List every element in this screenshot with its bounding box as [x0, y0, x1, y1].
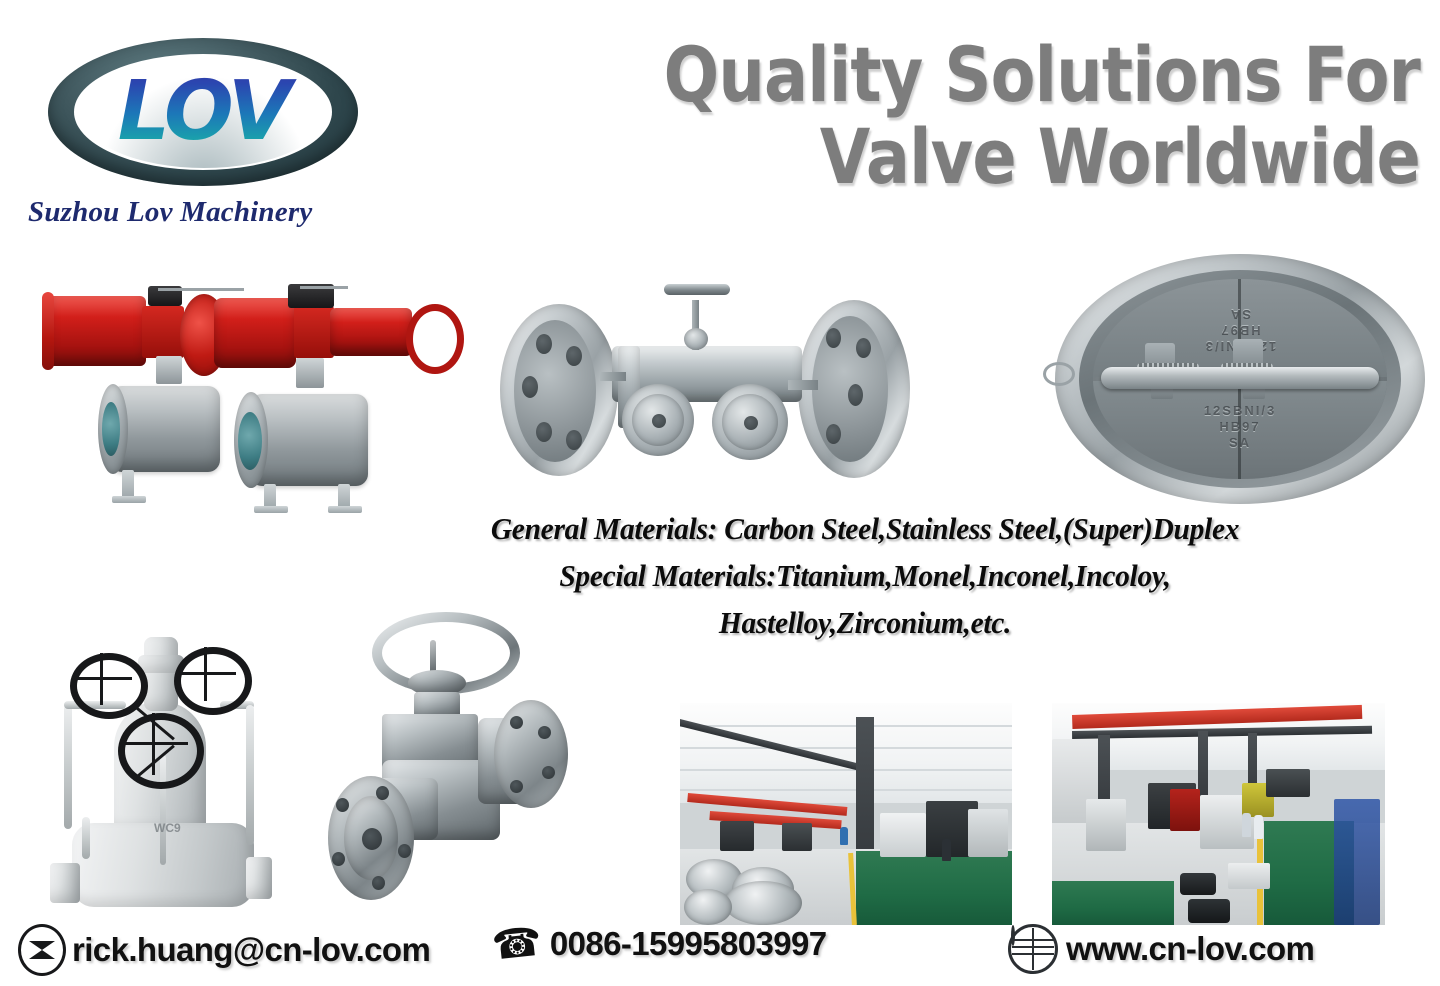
needle-valve-bonnet — [684, 328, 708, 350]
flange-bolt-hole — [826, 424, 841, 444]
cnc-machine — [968, 809, 1008, 857]
flange-bolt-hole — [848, 384, 863, 406]
check-valve-marking-grade-2: 12SBNI/3 — [1093, 403, 1387, 418]
logo-lettermark: LOV — [48, 56, 358, 168]
main-handwheel — [118, 713, 204, 789]
check-valve-marking-top: SA — [1093, 307, 1387, 322]
ball-valve-bore-left — [102, 402, 120, 456]
actuator-cylinder-far-right — [330, 308, 412, 356]
flange-bolt-hole — [522, 376, 538, 398]
ceiling-panel-line — [680, 789, 1012, 791]
valve-stem-left — [156, 356, 182, 384]
product-image-dual-plate-check-valve: SA HB97 12SBNI/3 12SBNI/3 HB97 SA — [1055, 254, 1425, 504]
flange-bolt-hole — [510, 716, 523, 729]
workshop-green-aisle — [856, 851, 1012, 925]
check-valve-lifting-eye — [1043, 362, 1075, 386]
headline-line-2: Valve Worldwide — [526, 116, 1420, 198]
website-url[interactable]: www.cn-lov.com — [1066, 930, 1314, 968]
stacked-valve-parts — [1180, 873, 1216, 895]
cnc-machine — [1170, 789, 1200, 831]
gate-valve-yoke — [144, 637, 178, 711]
flange-bolt-hole — [566, 346, 582, 366]
gate-valve-end-connection-left — [50, 863, 80, 903]
product-image-ball-valves — [38, 268, 463, 513]
materials-line-general: General Materials: Carbon Steel,Stainles… — [357, 505, 1374, 552]
contact-website[interactable]: www.cn-lov.com — [1008, 924, 1314, 974]
flange-bolt-hole — [536, 422, 552, 442]
factory-photo-machining-workshop — [680, 703, 1012, 925]
company-logo-block: LOV Suzhou Lov Machinery — [20, 38, 380, 243]
check-valve-marking-bot-2: SA — [1093, 435, 1387, 450]
cnc-machine — [1266, 769, 1310, 797]
contact-email[interactable]: rick.huang@cn-lov.com — [18, 924, 430, 976]
dbb-inlet-nipple — [600, 372, 626, 381]
valve-support-foot — [112, 496, 146, 503]
phone-number[interactable]: 0086-15995803997 — [550, 925, 827, 963]
product-banner: LOV Suzhou Lov Machinery Quality Solutio… — [0, 0, 1440, 986]
product-image-forged-gate-valve — [310, 600, 610, 930]
cnc-machine — [720, 821, 754, 851]
bypass-pipe-left-vertical — [64, 705, 72, 829]
actuator-end-cap-left — [42, 292, 54, 370]
actuator-gearbox-right — [294, 306, 334, 358]
email-address[interactable]: rick.huang@cn-lov.com — [72, 931, 430, 969]
handwheel-spoke — [72, 677, 132, 680]
block-valve-port-left — [652, 414, 666, 428]
product-image-pressure-seal-gate-valve: WC9 — [40, 605, 330, 925]
envelope-icon — [18, 924, 66, 976]
ceiling-panel-line — [680, 769, 1012, 771]
flange-bolt-hole — [538, 726, 551, 739]
actuator-tubing-right — [300, 286, 348, 289]
blue-racking — [1334, 799, 1380, 925]
headline-line-1: Quality Solutions For — [526, 34, 1420, 116]
company-name: Suzhou Lov Machinery — [28, 196, 380, 229]
worker — [1254, 815, 1263, 839]
globe-icon — [1008, 924, 1058, 974]
bypass-handwheel-right — [174, 647, 252, 715]
cnc-machine — [880, 813, 926, 857]
actuator-cylinder-left — [48, 296, 146, 366]
bypass-pipe-drain-left — [82, 817, 90, 859]
valve-flange-stock — [724, 881, 802, 925]
flange-bolt-hole — [566, 430, 582, 450]
flange-bolt-hole — [826, 328, 841, 348]
actuator-gearbox-left — [142, 306, 184, 358]
check-valve-marking-mid: HB97 — [1093, 323, 1387, 338]
contact-phone[interactable]: ☎ 0086-15995803997 — [492, 924, 827, 964]
worker — [840, 827, 848, 845]
handwheel-spoke — [120, 742, 188, 745]
contact-footer: rick.huang@cn-lov.com ☎ 0086-15995803997… — [0, 920, 1440, 986]
workshop-green-aisle — [1052, 881, 1174, 925]
block-valve-port-right — [744, 416, 758, 430]
gate-valve-casting-mark: WC9 — [154, 821, 181, 835]
lov-logo-icon: LOV — [48, 38, 358, 186]
page-title: Quality Solutions For Valve Worldwide — [526, 34, 1420, 198]
worker — [942, 839, 951, 861]
dbb-outlet-nipple — [788, 380, 818, 390]
actuator-tubing-left — [158, 288, 244, 291]
materials-line-special: Special Materials:Titanium,Monel,Inconel… — [357, 552, 1374, 599]
flange-bolt-hole — [398, 844, 411, 858]
forged-valve-bore — [362, 828, 382, 850]
workshop-ceiling — [680, 703, 1012, 803]
forged-valve-flange-right — [494, 700, 568, 808]
gate-valve-end-connection-right — [246, 857, 272, 899]
check-valve-marking-mid-2: HB97 — [1093, 419, 1387, 434]
worker — [1242, 813, 1251, 837]
actuator-cylinder-right — [214, 298, 296, 368]
flange-bolt-hole — [372, 876, 385, 890]
bypass-pipe-right-vertical — [246, 705, 254, 845]
cnc-machine — [1086, 799, 1126, 851]
ceiling-panel-line — [680, 725, 1012, 727]
manual-override-handwheel — [406, 304, 464, 374]
valve-stem-right — [296, 358, 324, 388]
flange-bolt-hole — [332, 852, 345, 866]
phone-handset-icon: ☎ — [490, 922, 544, 967]
flange-bolt-hole — [510, 780, 523, 793]
handwheel-spoke — [176, 672, 236, 675]
ball-valve-bore-right — [238, 412, 262, 470]
ceiling-panel-line — [680, 747, 1012, 749]
flange-bolt-hole — [376, 786, 389, 800]
machined-plate — [1228, 863, 1270, 889]
product-image-double-block-and-bleed — [500, 272, 910, 502]
t-handle — [664, 284, 730, 295]
valve-support-foot — [254, 506, 288, 513]
factory-photo-cnc-hall — [1052, 703, 1385, 925]
cnc-machine — [782, 823, 812, 851]
flange-bolt-hole — [542, 766, 555, 779]
flange-bolt-hole — [536, 334, 552, 354]
check-valve-bore: SA HB97 12SBNI/3 12SBNI/3 HB97 SA — [1093, 279, 1387, 479]
check-valve-hinge-pin — [1101, 367, 1379, 389]
flange-bolt-hole — [856, 338, 871, 358]
flange-bolt-hole — [336, 798, 349, 812]
